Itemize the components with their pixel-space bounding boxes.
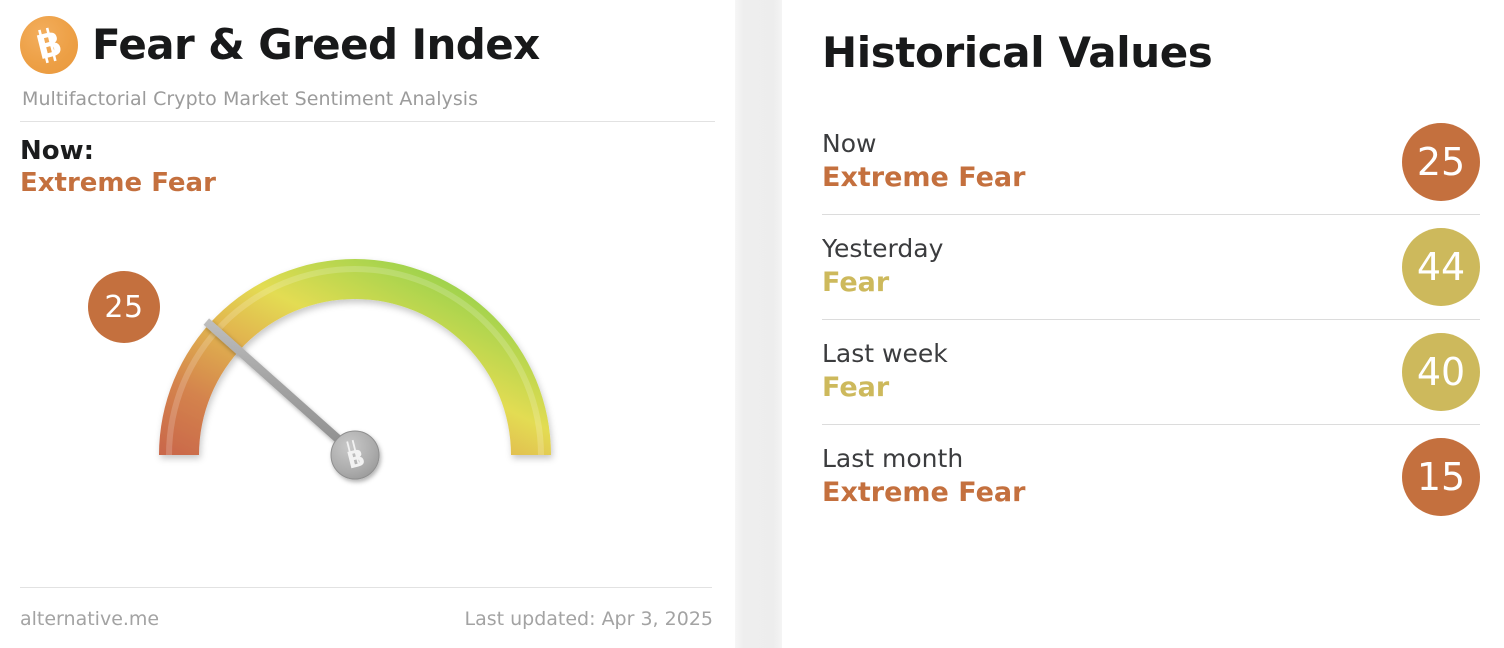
- row-texts: Last month Extreme Fear: [822, 446, 1025, 508]
- page-title: Fear & Greed Index: [92, 24, 540, 66]
- row-texts: Last week Fear: [822, 341, 948, 403]
- bitcoin-icon: B: [20, 16, 78, 74]
- row-texts: Now Extreme Fear: [822, 131, 1025, 193]
- row-period: Last week: [822, 341, 948, 367]
- svg-text:B: B: [32, 24, 66, 68]
- row-classification: Extreme Fear: [822, 479, 1025, 507]
- row-period: Now: [822, 131, 1025, 157]
- panel-gap: [782, 0, 800, 648]
- historical-values-title: Historical Values: [822, 0, 1480, 74]
- header-divider: [20, 121, 715, 122]
- row-value-badge: 25: [1402, 123, 1480, 201]
- fear-greed-gauge: B 25: [0, 200, 735, 570]
- row-value-badge: 15: [1402, 438, 1480, 516]
- row-period: Last month: [822, 446, 1025, 472]
- gauge-card: B Fear & Greed Index Multifactorial Cryp…: [0, 0, 735, 648]
- row-classification: Extreme Fear: [822, 164, 1025, 192]
- list-item: Yesterday Fear 44: [822, 215, 1480, 320]
- row-period: Yesterday: [822, 236, 943, 262]
- now-label: Now:: [20, 136, 735, 168]
- footer-source[interactable]: alternative.me: [20, 608, 159, 630]
- row-classification: Fear: [822, 269, 943, 297]
- row-value-badge: 44: [1402, 228, 1480, 306]
- list-item: Last week Fear 40: [822, 320, 1480, 425]
- list-item: Last month Extreme Fear 15: [822, 425, 1480, 529]
- row-value-badge: 40: [1402, 333, 1480, 411]
- now-block: Now: Extreme Fear: [20, 136, 735, 199]
- card-footer: alternative.me Last updated: Apr 3, 2025: [20, 608, 713, 630]
- gauge-value-badge: 25: [88, 271, 160, 343]
- page-subtitle: Multifactorial Crypto Market Sentiment A…: [22, 88, 735, 110]
- now-classification: Extreme Fear: [20, 168, 735, 200]
- list-item: Now Extreme Fear 25: [822, 110, 1480, 215]
- card-header: B Fear & Greed Index: [0, 0, 735, 74]
- footer-last-updated: Last updated: Apr 3, 2025: [465, 608, 714, 630]
- footer-divider: [20, 587, 712, 588]
- row-texts: Yesterday Fear: [822, 236, 943, 298]
- historical-values-list: Now Extreme Fear 25 Yesterday Fear 44 La…: [822, 110, 1480, 529]
- panel-separator: [735, 0, 782, 648]
- row-classification: Fear: [822, 374, 948, 402]
- fear-greed-index-widget: B Fear & Greed Index Multifactorial Cryp…: [0, 0, 1504, 648]
- historical-values-panel: Historical Values Now Extreme Fear 25 Ye…: [800, 0, 1504, 648]
